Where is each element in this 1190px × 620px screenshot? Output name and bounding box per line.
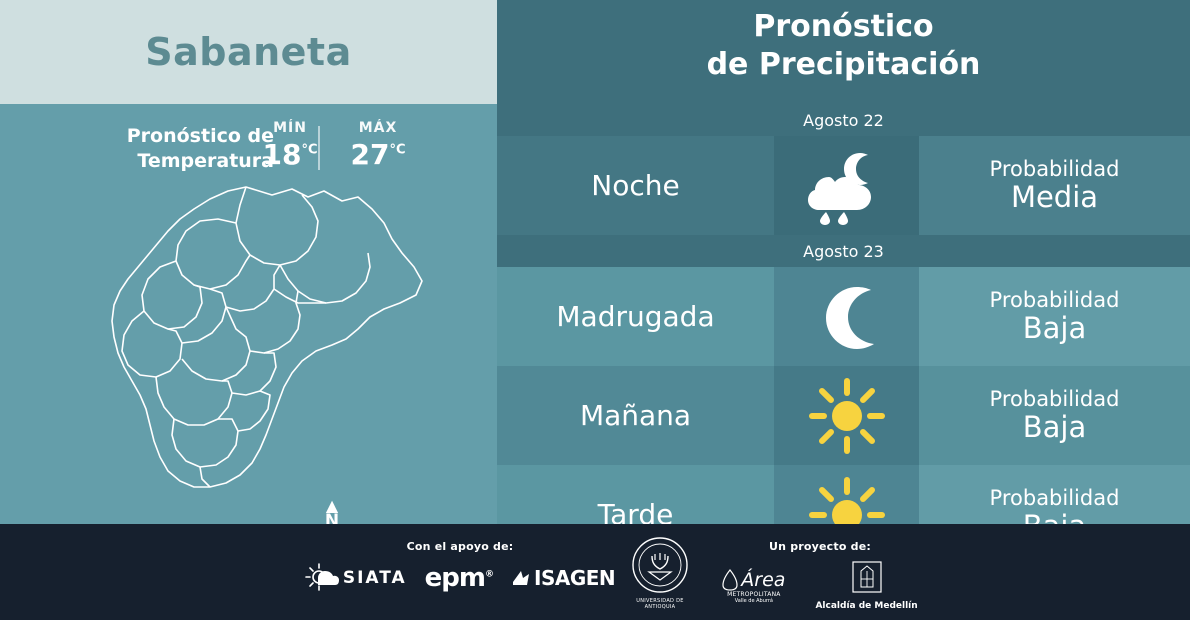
forecast-title-line1: Pronóstico: [497, 8, 1190, 46]
footer-project-caption: Un proyecto de:: [700, 540, 940, 553]
probability-madrugada: Probabilidad Baja: [919, 267, 1190, 366]
temperature-max-value: 27°C: [338, 138, 418, 171]
probability-word-manana: Probabilidad: [990, 388, 1120, 412]
area-subtitle-2: Valle de Aburrá: [722, 598, 785, 604]
right-panel: Pronóstico de Precipitación Agosto 22 No…: [497, 0, 1190, 524]
period-label-madrugada: Madrugada: [497, 267, 774, 366]
footer-project-section: Un proyecto de: Área METROPOLITANA Valle…: [700, 524, 940, 620]
area-mark-icon: [722, 569, 738, 591]
temperature-min-value: 18°C: [258, 138, 322, 171]
siata-sun-cloud-icon: [305, 561, 339, 595]
epm-trademark: ®: [485, 569, 493, 579]
probability-value-manana: Baja: [1023, 411, 1087, 443]
probability-manana: Probabilidad Baja: [919, 366, 1190, 465]
area-subtitle-1: METROPOLITANA: [722, 591, 785, 598]
temperature-max-number: 27: [350, 138, 389, 171]
udea-caption: UNIVERSIDAD DE ANTIOQUIA: [620, 598, 700, 610]
siata-logo: SIATA: [305, 561, 407, 595]
epm-wordmark: epm: [425, 563, 485, 593]
probability-word-noche: Probabilidad: [990, 158, 1120, 182]
temperature-label-line1: Pronóstico de: [84, 124, 274, 149]
probability-word-tarde: Probabilidad: [990, 487, 1120, 511]
temperature-block: Pronóstico de Temperatura MÍN 18°C MÁX 2…: [0, 104, 497, 184]
temperature-min-caption: MÍN: [258, 120, 322, 136]
probability-value-noche: Media: [1011, 181, 1098, 213]
temperature-max-unit: °C: [389, 143, 405, 158]
alcaldia-caption: Alcaldía de Medellín: [815, 601, 917, 611]
temperature-min: MÍN 18°C: [258, 120, 322, 171]
weather-forecast-card: Sabaneta Pronóstico de Temperatura MÍN 1…: [0, 0, 1190, 620]
footer-support-caption: Con el apoyo de:: [300, 540, 620, 553]
udea-logo: UNIVERSIDAD DE ANTIOQUIA: [620, 524, 700, 620]
probability-noche: Probabilidad Media: [919, 136, 1190, 235]
temperature-label-line2: Temperatura: [84, 149, 274, 174]
alcaldia-shield-icon: [852, 561, 882, 597]
forecast-title: Pronóstico de Precipitación: [497, 8, 1190, 84]
isagen-wordmark: ISAGEN: [534, 566, 615, 590]
moon-rain-icon-svg: [799, 147, 895, 225]
isagen-mark-icon: [511, 568, 531, 588]
municipality-map: ▲ N: [40, 175, 460, 520]
date-label-2: Agosto 23: [803, 242, 884, 261]
moon-icon-svg: [811, 281, 883, 353]
footer-support-logos: SIATA epm® ISAGEN: [300, 561, 620, 595]
left-panel: Sabaneta Pronóstico de Temperatura MÍN 1…: [0, 0, 497, 524]
temperature-min-number: 18: [262, 138, 301, 171]
sun-icon: [774, 366, 919, 465]
moon-icon: [774, 267, 919, 366]
footer-support-section: Con el apoyo de: SIATA: [300, 524, 620, 620]
probability-value-madrugada: Baja: [1023, 312, 1087, 344]
area-metropolitana-logo: Área METROPOLITANA Valle de Aburrá: [722, 569, 785, 604]
period-label-manana: Mañana: [497, 366, 774, 465]
date-band-2: Agosto 23: [497, 235, 1190, 267]
city-header: Sabaneta: [0, 0, 497, 104]
forecast-title-line2: de Precipitación: [497, 46, 1190, 84]
forecast-row-madrugada: Madrugada Probabilidad Baja: [497, 267, 1190, 366]
date-band-1: Agosto 22: [497, 104, 1190, 136]
probability-word-madrugada: Probabilidad: [990, 289, 1120, 313]
temperature-min-unit: °C: [301, 143, 317, 158]
footer-project-logos: Área METROPOLITANA Valle de Aburrá Alcal…: [700, 561, 940, 611]
isagen-logo: ISAGEN: [511, 566, 615, 590]
forecast-row-manana: Mañana: [497, 366, 1190, 465]
temperature-label: Pronóstico de Temperatura: [84, 124, 274, 174]
period-label-noche: Noche: [497, 136, 774, 235]
temperature-max: MÁX 27°C: [338, 120, 418, 171]
alcaldia-medellin-logo: Alcaldía de Medellín: [815, 561, 917, 611]
map-svg: [40, 175, 460, 520]
temperature-divider: [318, 126, 320, 170]
moon-rain-icon: [774, 136, 919, 235]
epm-logo: epm®: [425, 563, 493, 593]
siata-wordmark: SIATA: [343, 568, 407, 588]
sun-icon-svg: [806, 375, 888, 457]
area-wordmark: Área: [741, 569, 785, 591]
udea-seal-icon: [631, 536, 689, 594]
footer: Con el apoyo de: SIATA: [0, 524, 1190, 620]
temperature-max-caption: MÁX: [338, 120, 418, 136]
forecast-rows: Agosto 22 Noche Probabilidad Media: [497, 104, 1190, 564]
page-title: Sabaneta: [145, 30, 352, 74]
date-label-1: Agosto 22: [803, 111, 884, 130]
forecast-row-noche: Noche Probabilidad Media: [497, 136, 1190, 235]
